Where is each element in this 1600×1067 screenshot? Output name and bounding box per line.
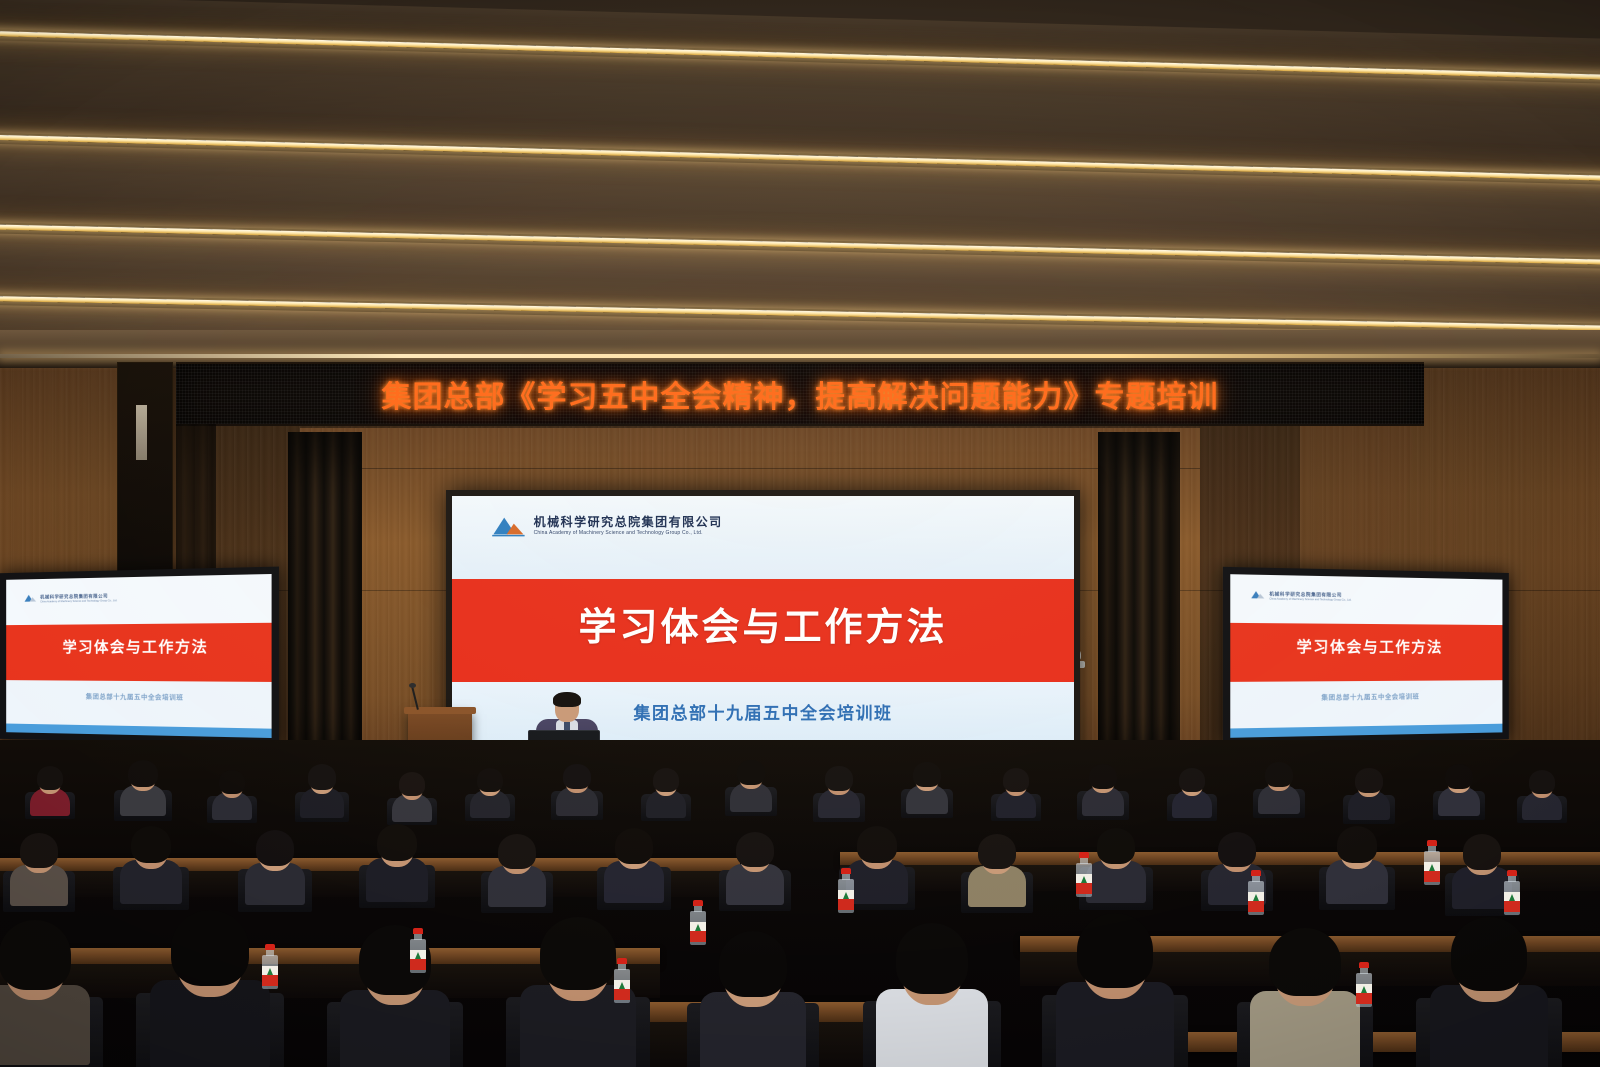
audience-member	[1452, 836, 1512, 904]
audience-member	[846, 828, 908, 898]
stage-curtain-left	[288, 432, 362, 780]
water-bottle	[838, 868, 854, 914]
water-bottle	[1424, 840, 1440, 886]
audience-member	[366, 826, 428, 896]
audience-member	[120, 828, 182, 898]
door-window	[136, 405, 147, 460]
person-hair	[1337, 826, 1377, 863]
person-hair	[1445, 764, 1472, 789]
person-hair	[857, 826, 897, 863]
audience-member	[245, 832, 305, 900]
audience-member	[1438, 766, 1480, 812]
company-logo: 机械科学研究总院集团有限公司 China Academy of Machiner…	[491, 515, 723, 537]
audience-member	[120, 762, 166, 812]
stage-curtain-right	[1098, 432, 1180, 780]
audience-member	[300, 766, 344, 814]
audience-member	[646, 770, 686, 814]
logo-text-cn: 机械科学研究总院集团有限公司	[534, 516, 723, 529]
auditorium-photo: 集团总部《学习五中全会精神，提高解决问题能力》专题培训	[0, 0, 1600, 1067]
audience-member	[1056, 918, 1174, 1058]
person-hair	[825, 766, 852, 791]
right-monitor[interactable]: 机械科学研究总院集团有限公司 China Academy of Machiner…	[1223, 567, 1509, 745]
mountain-logo-icon	[491, 515, 527, 537]
audience-member	[1082, 766, 1124, 812]
water-bottle	[1248, 870, 1264, 916]
audience-member	[1086, 830, 1146, 898]
led-banner: 集团总部《学习五中全会精神，提高解决问题能力》专题培训	[176, 362, 1424, 426]
audience-member	[604, 830, 664, 898]
water-bottle	[262, 944, 278, 990]
audience-member	[996, 770, 1036, 814]
person-hair	[1077, 913, 1154, 988]
person-hair	[498, 834, 536, 869]
audience-member	[30, 768, 70, 812]
person-hair	[653, 768, 679, 791]
audience-member	[968, 836, 1026, 902]
person-hair	[1218, 832, 1256, 867]
water-bottle	[410, 928, 426, 974]
slide-title: 学习体会与工作方法	[452, 596, 1074, 651]
podium-top	[404, 707, 476, 714]
water-bottle	[1356, 962, 1372, 1008]
audience-member	[10, 835, 68, 901]
person-hair	[1003, 768, 1029, 791]
water-bottle	[614, 958, 630, 1004]
water-bottle	[690, 900, 706, 946]
slide-header-band	[452, 496, 1074, 579]
person-hair	[1097, 828, 1136, 864]
audience-member	[876, 928, 988, 1060]
person-hair	[615, 828, 654, 864]
person-hair	[131, 826, 171, 863]
audience-member	[818, 768, 860, 814]
person-hair	[20, 833, 58, 868]
audience-member	[212, 772, 252, 816]
person-hair	[219, 770, 245, 793]
person-hair	[719, 931, 788, 997]
audience-member	[1430, 922, 1548, 1060]
person-hair	[1089, 764, 1116, 789]
stage-side-door[interactable]	[117, 362, 173, 592]
person-hair	[308, 764, 337, 790]
water-bottle	[1076, 852, 1092, 898]
audience-member	[1258, 764, 1300, 810]
microphone-icon	[409, 683, 416, 688]
audience-member	[340, 930, 450, 1060]
wall-seam	[300, 468, 1200, 469]
audience-member	[1326, 828, 1388, 898]
water-bottle	[1504, 870, 1520, 916]
audience-member	[726, 834, 784, 900]
left-monitor[interactable]: 机械科学研究总院集团有限公司 China Academy of Machiner…	[0, 567, 279, 746]
person-hair	[896, 923, 969, 993]
audience-member	[470, 770, 510, 814]
person-hair	[256, 830, 295, 866]
person-hair	[563, 764, 590, 789]
audience-member	[1250, 932, 1360, 1060]
audience-member	[730, 762, 772, 808]
person-hair	[1355, 768, 1382, 793]
audience-member	[906, 764, 948, 810]
ceiling	[0, 0, 1600, 372]
person-hair	[1265, 762, 1292, 787]
audience-member	[488, 836, 546, 902]
led-banner-text: 集团总部《学习五中全会精神，提高解决问题能力》专题培训	[382, 372, 1219, 416]
person-hair	[913, 762, 940, 787]
person-hair	[171, 910, 249, 986]
soffit-edge-light	[0, 354, 1600, 358]
audience-member	[0, 925, 90, 1055]
logo-text-en: China Academy of Machinery Science and T…	[534, 530, 723, 536]
person-hair	[736, 832, 774, 867]
person-hair	[128, 760, 158, 787]
audience-member	[150, 915, 270, 1057]
person-hair	[1451, 917, 1528, 991]
audience-member	[1348, 770, 1390, 816]
person-hair	[377, 824, 417, 861]
person-hair	[1463, 834, 1502, 870]
monitor-bezel	[0, 567, 279, 746]
person-hair	[1529, 770, 1555, 793]
person-hair	[1179, 768, 1205, 791]
seated-audience	[0, 740, 1600, 1067]
audience-member	[392, 774, 432, 818]
person-hair	[399, 772, 425, 795]
person-hair	[0, 920, 71, 989]
audience-member	[700, 935, 806, 1059]
audience-member	[1172, 770, 1212, 814]
audience-member	[556, 766, 598, 812]
audience-member	[1522, 772, 1562, 816]
person-hair	[540, 917, 615, 990]
person-hair	[737, 760, 764, 785]
presenter-hair	[553, 692, 581, 707]
monitor-bezel	[1223, 567, 1509, 745]
person-hair	[1269, 928, 1340, 996]
person-hair	[978, 834, 1016, 869]
person-hair	[37, 766, 63, 789]
person-hair	[477, 768, 503, 791]
